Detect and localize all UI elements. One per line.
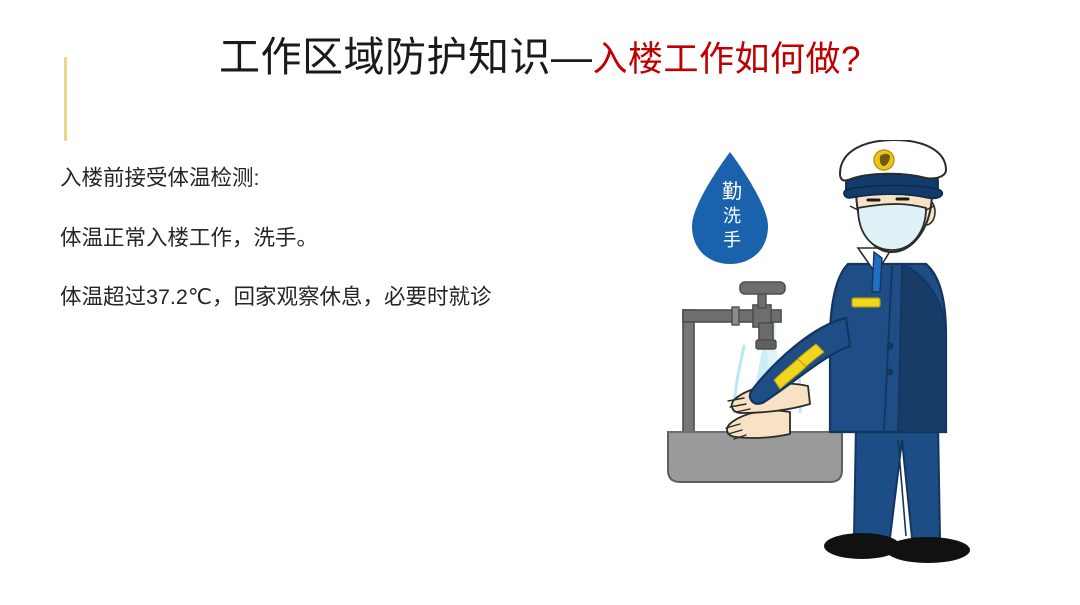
body-text-block: 入楼前接受体温检测: 体温正常入楼工作，洗手。 体温超过37.2℃，回家观察休息… — [60, 168, 640, 309]
droplet-label-char-2: 洗 — [723, 206, 741, 226]
body-line-2: 体温正常入楼工作，洗手。 — [60, 228, 640, 250]
droplet-label-char-1: 勤 — [722, 180, 742, 203]
body-line-1: 入楼前接受体温检测: — [60, 168, 640, 190]
necktie — [872, 252, 882, 292]
page-title-black-part: 工作区域防护知识— — [219, 34, 593, 80]
face-mask — [858, 204, 926, 250]
policeman-washing-hands-illustration: 勤 洗 手 — [640, 140, 1040, 580]
jacket-button-1 — [887, 343, 894, 350]
sink-basin — [668, 432, 842, 482]
chest-badge — [852, 298, 880, 307]
page-title-red-part: 入楼工作如何做? — [593, 40, 861, 79]
shoe-right — [886, 537, 970, 563]
slide-canvas: 工作区域防护知识—入楼工作如何做? 入楼前接受体温检测: 体温正常入楼工作，洗手… — [0, 0, 1080, 605]
water-droplet-icon: 勤 洗 手 — [692, 152, 768, 264]
page-title: 工作区域防护知识—入楼工作如何做? — [0, 34, 1080, 81]
droplet-label-char-3: 手 — [723, 230, 741, 250]
police-officer-figure — [750, 140, 970, 563]
jacket-button-2 — [887, 369, 894, 376]
body-line-3: 体温超过37.2℃，回家观察休息，必要时就诊 — [60, 287, 640, 309]
officer-head — [840, 140, 946, 252]
